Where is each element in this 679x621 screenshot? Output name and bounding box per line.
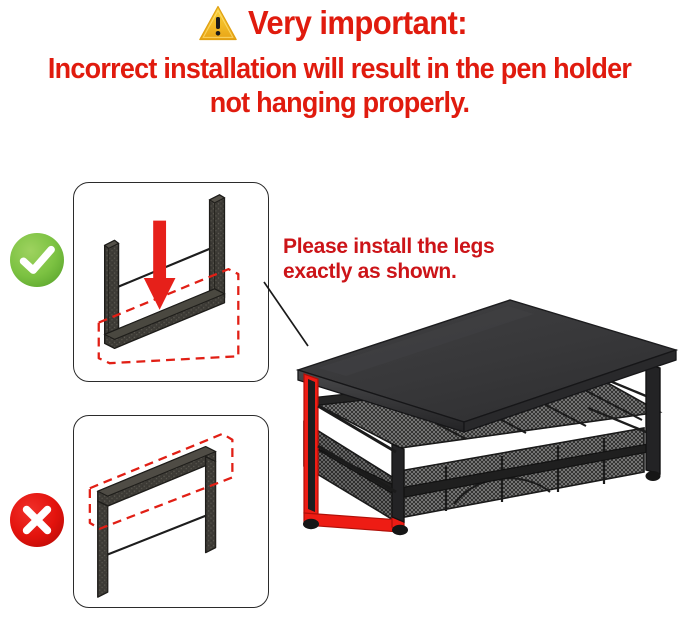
leg-post-right [210,195,225,303]
frame-leg-front-right [392,444,404,522]
infographic-page: Very important: Incorrect installation w… [0,0,679,621]
header-subtitle: Incorrect installation will result in th… [0,52,679,120]
leg-top-bar [98,447,216,506]
green-check-circle-icon [8,231,66,289]
warning-triangle-icon [198,4,238,42]
leg-post-left [105,240,119,337]
page-title: Very important: [248,4,467,42]
red-cross-circle-icon [8,491,66,549]
header-block: Very important: Incorrect installation w… [0,0,679,140]
correct-leg-orientation-diagram [73,182,269,382]
leg-post-left [98,501,108,597]
incorrect-leg-orientation-diagram [73,415,269,608]
header-subtitle-line-2: not hanging properly. [24,86,655,120]
leg-post-right [206,457,216,553]
header-subtitle-line-1: Incorrect installation will result in th… [24,52,655,86]
headline-row: Very important: [0,4,679,42]
callout-line-1: Please install the legs [283,234,563,259]
monitor-stand-desk-organizer [288,276,679,536]
